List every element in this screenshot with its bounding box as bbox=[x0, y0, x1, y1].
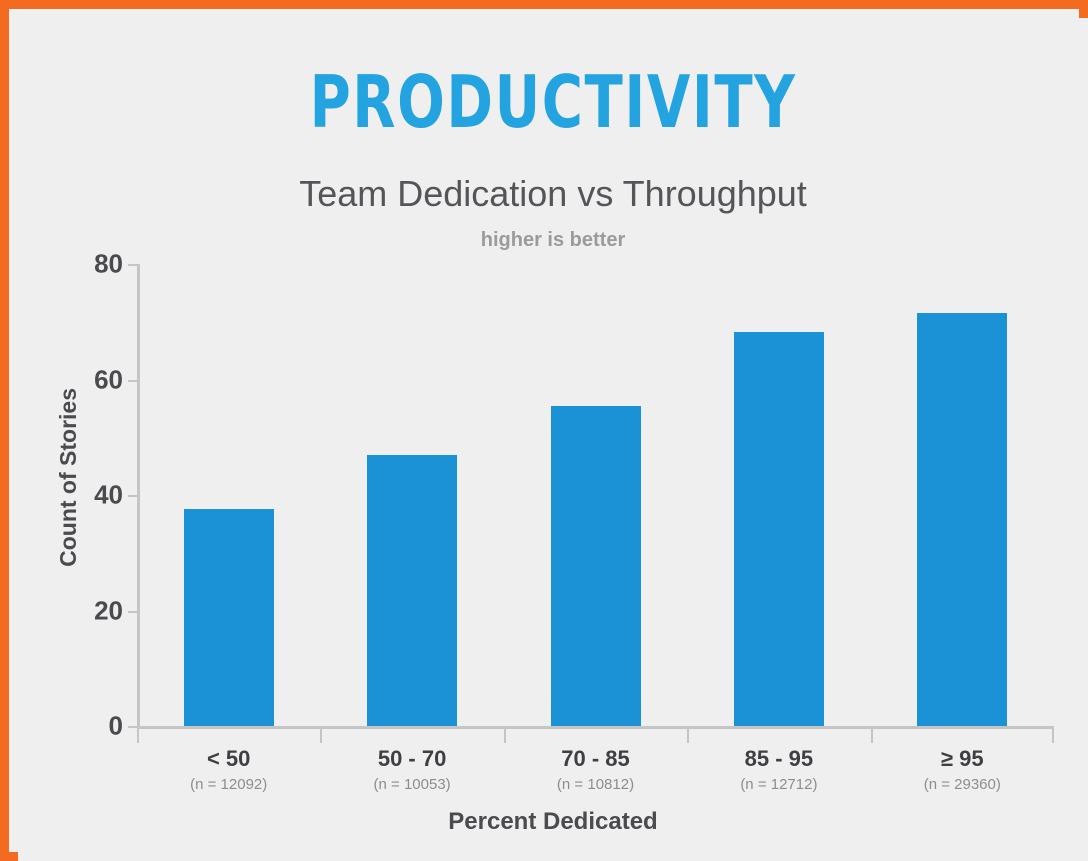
x-tick-mark bbox=[687, 729, 689, 743]
x-category-sample-size: (n = 10053) bbox=[320, 776, 503, 793]
y-tick-mark bbox=[128, 264, 137, 266]
y-tick-mark bbox=[128, 611, 137, 613]
bar[interactable] bbox=[184, 509, 274, 726]
x-tick-mark bbox=[137, 729, 139, 743]
x-axis-title: Percent Dedicated bbox=[18, 808, 1088, 836]
y-tick-label: 40 bbox=[94, 480, 123, 511]
page-title: PRODUCTIVITY bbox=[136, 66, 971, 138]
x-category-sample-size: (n = 12092) bbox=[137, 776, 320, 793]
y-tick-label: 20 bbox=[94, 595, 123, 626]
x-category-label: < 50(n = 12092) bbox=[137, 746, 320, 793]
y-tick-label: 60 bbox=[94, 364, 123, 395]
chart-canvas: PRODUCTIVITY Team Dedication vs Throughp… bbox=[18, 18, 1088, 861]
x-category-label: 85 - 95(n = 12712) bbox=[687, 746, 870, 793]
bar[interactable] bbox=[367, 455, 457, 726]
y-tick-label: 80 bbox=[94, 249, 123, 280]
x-tick-mark bbox=[1052, 729, 1054, 743]
x-category-name: 70 - 85 bbox=[504, 746, 687, 772]
bar[interactable] bbox=[551, 406, 641, 727]
chart-subtitle: higher is better bbox=[18, 229, 1088, 252]
y-tick-mark bbox=[128, 380, 137, 382]
x-axis-line bbox=[137, 726, 1054, 729]
x-category-label: 70 - 85(n = 10812) bbox=[504, 746, 687, 793]
y-axis-title: Count of Stories bbox=[55, 388, 82, 567]
x-tick-mark bbox=[871, 729, 873, 743]
x-category-label: 50 - 70(n = 10053) bbox=[320, 746, 503, 793]
x-category-name: < 50 bbox=[137, 746, 320, 772]
plot-area: 020406080< 50(n = 12092)50 - 70(n = 1005… bbox=[137, 264, 1054, 729]
y-tick-mark bbox=[128, 495, 137, 497]
x-category-name: ≥ 95 bbox=[871, 746, 1054, 772]
x-category-name: 50 - 70 bbox=[320, 746, 503, 772]
x-category-name: 85 - 95 bbox=[687, 746, 870, 772]
x-category-sample-size: (n = 10812) bbox=[504, 776, 687, 793]
y-axis-line bbox=[137, 264, 140, 729]
y-tick-label: 0 bbox=[109, 711, 123, 742]
chart-title: Team Dedication vs Throughput bbox=[18, 173, 1088, 215]
y-tick-mark bbox=[128, 726, 137, 728]
bar[interactable] bbox=[917, 313, 1007, 726]
x-category-sample-size: (n = 12712) bbox=[687, 776, 870, 793]
x-category-label: ≥ 95(n = 29360) bbox=[871, 746, 1054, 793]
chart-frame: PRODUCTIVITY Team Dedication vs Throughp… bbox=[0, 0, 1088, 861]
x-tick-mark bbox=[504, 729, 506, 743]
x-tick-mark bbox=[320, 729, 322, 743]
x-category-sample-size: (n = 29360) bbox=[871, 776, 1054, 793]
bar[interactable] bbox=[734, 332, 824, 726]
